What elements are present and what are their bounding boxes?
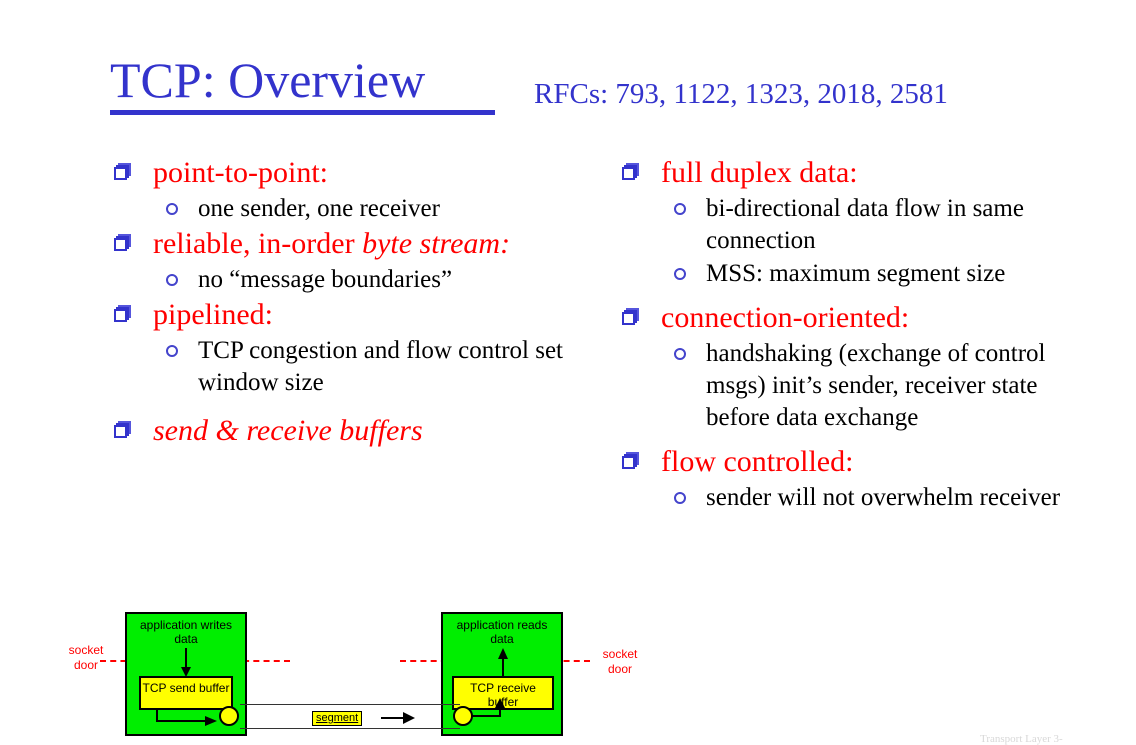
network-pipe-top-line [240,704,460,705]
sub-bullet-message-boundaries: no “message boundaries” [158,264,608,296]
right-column: full duplex data: bi-directional data fl… [616,155,1068,515]
bullet-flow-controlled: flow controlled: [616,444,1068,480]
segment-label: segment [312,711,362,726]
circle-bullet-icon [674,268,686,280]
bullet-pipelined: pipelined: [108,297,608,333]
sub-bullet-one-sender: one sender, one receiver [158,193,608,225]
circle-bullet-icon [166,203,178,215]
bullet-full-duplex-data: full duplex data: [616,155,1068,191]
socket-port-right [453,706,473,726]
bullet-connection-oriented: connection-oriented: [616,300,1068,336]
bullet-label: flow controlled: [661,444,1068,480]
application-reads-label: application reads data [447,618,557,646]
circle-bullet-icon [674,203,686,215]
square-bullet-icon [114,238,127,251]
page-title: TCP: Overview [110,54,425,106]
square-bullet-icon [622,167,635,180]
sub-bullet-label: MSS: maximum segment size [706,260,1005,287]
title-underline [110,110,495,115]
circle-bullet-icon [674,492,686,504]
network-pipe-bottom-line [240,728,460,729]
title-area: TCP: Overview RFCs: 793, 1122, 1323, 201… [0,26,1136,96]
sub-bullet-congestion-control: TCP congestion and flow control set wind… [158,335,608,399]
bullet-label: point-to-point: [153,155,608,191]
circle-bullet-icon [166,274,178,286]
port-to-receive-buffer-connector [470,698,510,722]
slide-footer: Transport Layer 3- [980,733,1063,745]
write-down-arrow-icon [179,648,193,678]
socket-door-label-left: socket door [56,643,116,673]
bullet-label: connection-oriented: [661,300,1068,336]
sub-bullet-label: one sender, one receiver [198,195,440,222]
socket-port-left [219,706,239,726]
square-bullet-icon [622,456,635,469]
sub-bullet-label: handshaking (exchange of control msgs) i… [706,340,1045,431]
tcp-send-buffer-box: TCP send buffer [139,676,233,710]
send-buffer-to-port-connector [155,708,225,730]
rfc-reference-note: RFCs: 793, 1122, 1323, 2018, 2581 [534,78,948,110]
bullet-label-emphasis: byte stream: [362,227,510,260]
left-column: point-to-point: one sender, one receiver… [108,155,608,451]
bullet-reliable-in-order: reliable, in-order byte stream: [108,226,608,262]
segment-direction-arrow-icon [381,711,417,725]
socket-door-label-right: socket door [590,647,650,677]
bullet-point-to-point: point-to-point: [108,155,608,191]
sub-bullet-sender-overwhelm: sender will not overwhelm receiver [666,482,1068,514]
circle-bullet-icon [674,348,686,360]
read-up-arrow-icon [496,648,510,678]
bullet-label: reliable, in-order byte stream: [153,226,608,262]
bullet-send-receive-buffers: send & receive buffers [108,413,608,449]
application-writes-label: application writes data [131,618,241,646]
sub-bullet-label: bi-directional data flow in same connect… [706,195,1024,254]
circle-bullet-icon [166,345,178,357]
bullet-label: full duplex data: [661,155,1068,191]
square-bullet-icon [622,312,635,325]
bullet-label: pipelined: [153,297,608,333]
sub-bullet-mss: MSS: maximum segment size [666,258,1068,290]
sub-bullet-label: no “message boundaries” [198,266,452,293]
sub-bullet-label: sender will not overwhelm receiver [706,484,1060,511]
square-bullet-icon [114,425,127,438]
sub-bullet-label: TCP congestion and flow control set wind… [198,337,563,396]
sub-bullet-bidirectional-flow: bi-directional data flow in same connect… [666,193,1068,257]
sub-bullet-handshaking: handshaking (exchange of control msgs) i… [666,338,1068,434]
square-bullet-icon [114,167,127,180]
bullet-label: send & receive buffers [153,413,608,449]
square-bullet-icon [114,309,127,322]
bullet-label-plain: reliable, in-order [153,227,362,260]
